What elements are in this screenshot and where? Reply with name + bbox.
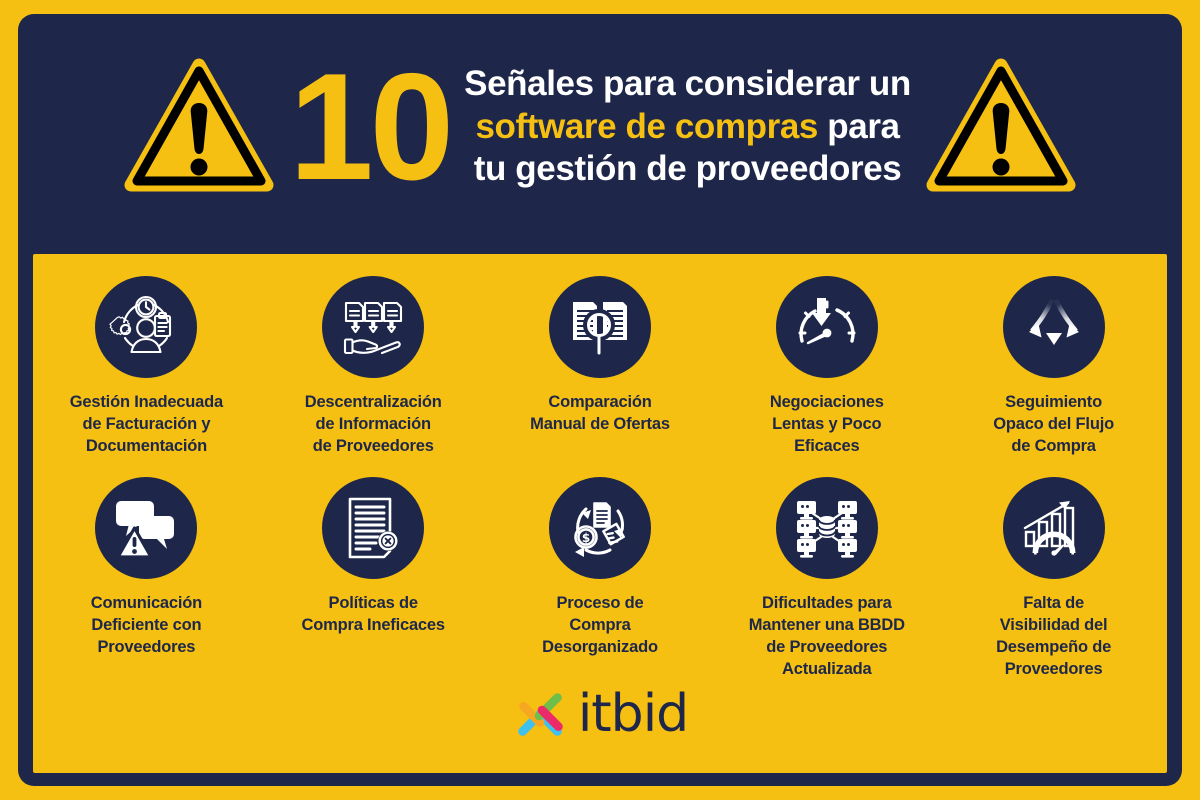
signal-card-comparacion-manual[interactable]: Comparación Manual de Ofertas bbox=[487, 276, 714, 458]
infographic-poster: 10 Señales para considerar un software d… bbox=[18, 14, 1182, 786]
headline: Señales para considerar un software de c… bbox=[464, 63, 911, 191]
header-right-warning-slot bbox=[911, 55, 1091, 200]
warning-triangle-icon bbox=[926, 55, 1076, 200]
documents-magnifier-icon bbox=[549, 276, 651, 378]
header: 10 Señales para considerar un software d… bbox=[18, 14, 1182, 240]
content-panel: Gestión Inadecuada de Facturación y Docu… bbox=[33, 254, 1167, 773]
signal-label: Seguimiento Opaco del Flujo de Compra bbox=[993, 392, 1114, 458]
signal-label: Gestión Inadecuada de Facturación y Docu… bbox=[70, 392, 223, 458]
speech-bubbles-warning-icon bbox=[95, 477, 197, 579]
svg-text:$: $ bbox=[582, 531, 590, 545]
signal-card-comunicacion-deficiente[interactable]: Comunicación Deficiente con Proveedores bbox=[33, 477, 260, 681]
itbid-x-mark-icon bbox=[512, 685, 570, 743]
headline-line-1: Señales para considerar un bbox=[464, 63, 911, 106]
headline-line-2-rest: para bbox=[818, 107, 900, 146]
headline-accent: software de compras bbox=[475, 107, 818, 146]
documents-to-hand-icon bbox=[322, 276, 424, 378]
signal-card-seguimiento-opaco[interactable]: Seguimiento Opaco del Flujo de Compra bbox=[940, 276, 1167, 458]
signal-card-proceso-desorganizado[interactable]: $ Proceso de Compra Desorganizado bbox=[487, 477, 714, 681]
signal-card-gestion-inadecuada[interactable]: Gestión Inadecuada de Facturación y Docu… bbox=[33, 276, 260, 458]
headline-line-3: tu gestión de proveedores bbox=[464, 148, 911, 191]
bar-chart-gauge-icon bbox=[1003, 477, 1105, 579]
headline-line-2: software de compras para bbox=[464, 106, 911, 149]
signal-card-descentralizacion[interactable]: Descentralización de Información de Prov… bbox=[260, 276, 487, 458]
signal-card-politicas-ineficaces[interactable]: Políticas de Compra Ineficaces bbox=[260, 477, 487, 681]
signal-card-falta-visibilidad[interactable]: Falta de Visibilidad del Desempeño de Pr… bbox=[940, 477, 1167, 681]
speedometer-down-arrow-icon bbox=[776, 276, 878, 378]
document-x-icon bbox=[322, 477, 424, 579]
signals-row: Comunicación Deficiente con Proveedores bbox=[33, 477, 1167, 681]
purchase-cycle-icon: $ bbox=[549, 477, 651, 579]
signal-label: Proceso de Compra Desorganizado bbox=[542, 593, 658, 659]
signal-label: Falta de Visibilidad del Desempeño de Pr… bbox=[996, 593, 1111, 681]
warning-triangle-icon bbox=[124, 55, 274, 200]
signal-label: Políticas de Compra Ineficaces bbox=[302, 593, 445, 637]
brand-logo[interactable]: itbid bbox=[33, 685, 1167, 743]
signals-row: Gestión Inadecuada de Facturación y Docu… bbox=[33, 276, 1167, 458]
signal-label: Comunicación Deficiente con Proveedores bbox=[91, 593, 202, 659]
signals-grid: Gestión Inadecuada de Facturación y Docu… bbox=[33, 276, 1167, 681]
person-gear-clock-clipboard-icon bbox=[95, 276, 197, 378]
signal-label: Dificultades para Mantener una BBDD de P… bbox=[749, 593, 905, 681]
signal-label: Comparación Manual de Ofertas bbox=[530, 392, 670, 436]
big-number: 10 bbox=[289, 55, 464, 199]
database-network-icon bbox=[776, 477, 878, 579]
diverging-arrows-icon bbox=[1003, 276, 1105, 378]
signal-card-bbdd-desactualizada[interactable]: Dificultades para Mantener una BBDD de P… bbox=[713, 477, 940, 681]
signal-label: Negociaciones Lentas y Poco Eficaces bbox=[770, 392, 884, 458]
header-left-warning-slot bbox=[109, 55, 289, 200]
signal-label: Descentralización de Información de Prov… bbox=[305, 392, 442, 458]
logo-text: itbid bbox=[578, 688, 688, 740]
signal-card-negociaciones-lentas[interactable]: Negociaciones Lentas y Poco Eficaces bbox=[713, 276, 940, 458]
